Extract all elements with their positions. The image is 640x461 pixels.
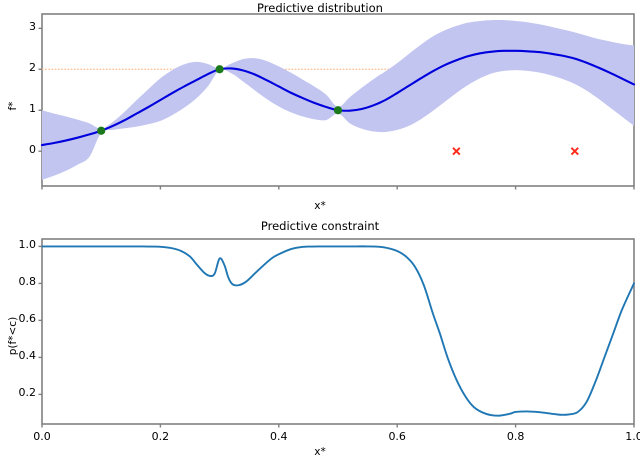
top-panel-title: Predictive distribution xyxy=(0,1,640,15)
y-tick-label: 2 xyxy=(0,61,36,74)
top-panel-x-axis-label: x* xyxy=(0,200,640,212)
x-tick-label: 0.2 xyxy=(135,430,185,443)
y-tick-label: 0 xyxy=(0,143,36,156)
bottom-panel-x-axis-label: x* xyxy=(0,446,640,458)
y-tick-label: 1 xyxy=(0,102,36,115)
axes-frame xyxy=(42,239,634,424)
observation-point xyxy=(97,127,105,135)
x-tick-label: 0.0 xyxy=(17,430,67,443)
series-line-p-f-c- xyxy=(42,246,634,415)
y-tick-label: 0.2 xyxy=(0,386,36,399)
y-tick-label: 0.8 xyxy=(0,275,36,288)
confidence-band xyxy=(42,20,634,180)
y-tick-label: 0.6 xyxy=(0,312,36,325)
x-tick-label: 0.8 xyxy=(491,430,541,443)
infeasible-marker xyxy=(571,148,578,155)
predictive-distribution-panel: Predictive distribution f* x* 0123 xyxy=(0,0,640,215)
y-tick-label: 3 xyxy=(0,20,36,33)
y-tick-label: 0.4 xyxy=(0,349,36,362)
bottom-panel-plot-area xyxy=(0,215,640,461)
observation-point xyxy=(334,106,342,114)
figure-canvas: Predictive distribution f* x* 0123 Predi… xyxy=(0,0,640,461)
x-tick-label: 0.4 xyxy=(254,430,304,443)
bottom-panel-title: Predictive constraint xyxy=(0,219,640,233)
infeasible-marker xyxy=(453,148,460,155)
predictive-constraint-panel: Predictive constraint p(f*<c) x* 0.20.40… xyxy=(0,215,640,461)
observation-point xyxy=(216,65,224,73)
top-panel-plot-area xyxy=(0,0,640,215)
y-tick-label: 1.0 xyxy=(0,238,36,251)
x-tick-label: 1.0 xyxy=(609,430,640,443)
x-tick-label: 0.6 xyxy=(372,430,422,443)
